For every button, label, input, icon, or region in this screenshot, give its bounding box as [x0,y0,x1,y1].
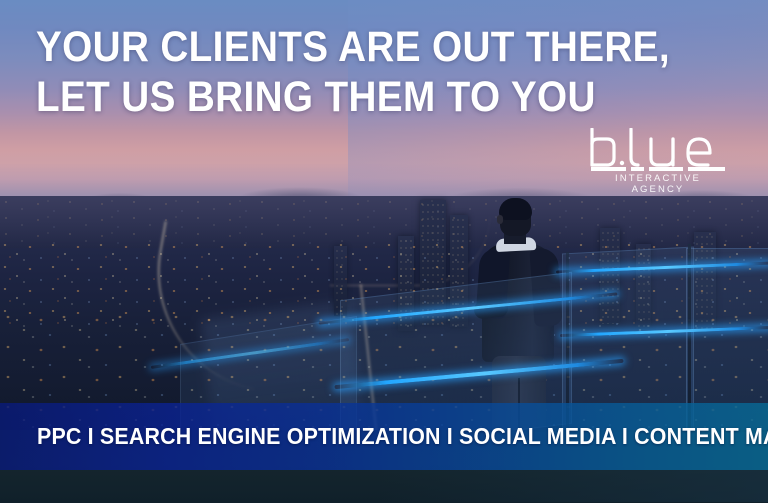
logo-tagline: INTERACTIVE AGENCY [588,173,728,195]
services-banner: PPC I SEARCH ENGINE OPTIMIZATION I SOCIA… [0,403,768,470]
headline: YOUR CLIENTS ARE OUT THERE, LET US BRING… [36,22,540,122]
services-banner-text: PPC I SEARCH ENGINE OPTIMIZATION I SOCIA… [37,423,768,450]
hair [499,198,532,220]
logo-divider-dashes [591,167,725,171]
blue-wordmark-icon [583,128,731,170]
advertisement-banner: YOUR CLIENTS ARE OUT THERE, LET US BRING… [0,0,768,503]
headline-line-1: YOUR CLIENTS ARE OUT THERE, [36,22,540,72]
brand-logo[interactable]: INTERACTIVE AGENCY [583,128,731,192]
ear [497,215,503,224]
headline-line-2: LET US BRING THEM TO YOU [36,72,540,122]
